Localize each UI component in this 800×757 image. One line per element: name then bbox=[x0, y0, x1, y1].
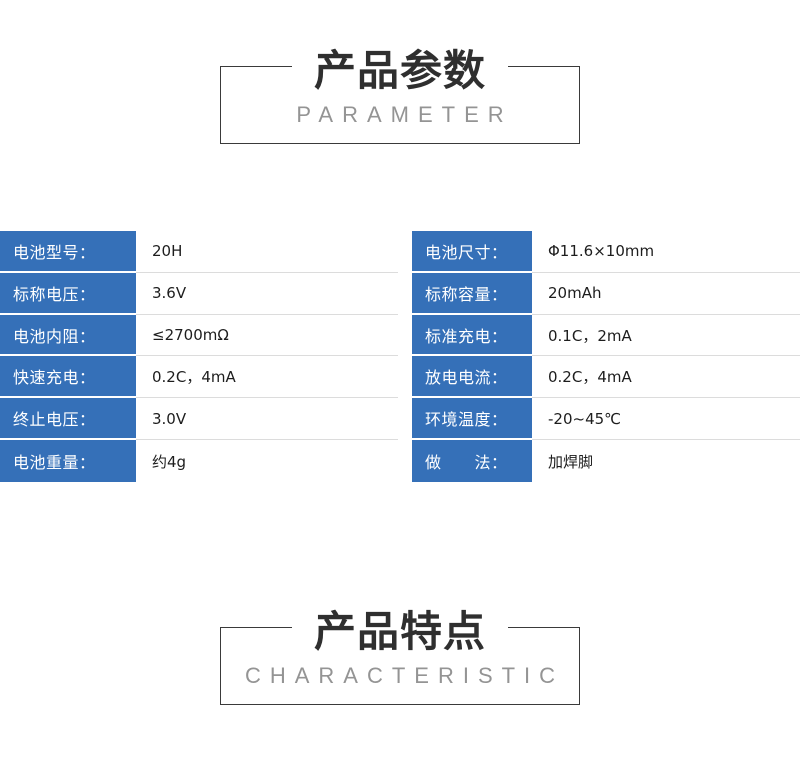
spec-value: ≤2700mΩ bbox=[136, 315, 398, 357]
spec-value: 0.1C，2mA bbox=[532, 315, 800, 357]
section-header-parameter: 产品参数 PARAMETER bbox=[220, 46, 580, 144]
spec-label: 放电电流： bbox=[412, 356, 532, 398]
table-row: 电池重量： 约4g bbox=[0, 440, 398, 482]
spec-value: Φ11.6×10mm bbox=[532, 231, 800, 273]
table-row: 标称电压： 3.6V bbox=[0, 273, 398, 315]
spec-value: 0.2C，4mA bbox=[532, 356, 800, 398]
spec-value: 约4g bbox=[136, 440, 398, 482]
section-title-characteristic-cn: 产品特点 bbox=[220, 607, 580, 657]
spec-label: 标称电压： bbox=[0, 273, 136, 315]
table-row: 电池型号： 20H bbox=[0, 231, 398, 273]
section-subtitle-characteristic-en: CHARACTERISTIC bbox=[220, 663, 580, 689]
section-subtitle-parameter-en: PARAMETER bbox=[220, 102, 580, 128]
spec-value: 3.0V bbox=[136, 398, 398, 440]
spec-label: 做 法： bbox=[412, 440, 532, 482]
spec-label: 电池内阻： bbox=[0, 315, 136, 357]
spec-table-right-column: 电池尺寸： Φ11.6×10mm 标称容量： 20mAh 标准充电： 0.1C，… bbox=[412, 231, 800, 482]
table-row: 终止电压： 3.0V bbox=[0, 398, 398, 440]
product-parameter-page: 产品参数 PARAMETER 电池型号： 20H 标称电压： 3.6V 电池内阻… bbox=[0, 0, 800, 757]
specification-table: 电池型号： 20H 标称电压： 3.6V 电池内阻： ≤2700mΩ 快速充电：… bbox=[0, 231, 800, 482]
table-row: 快速充电： 0.2C，4mA bbox=[0, 356, 398, 398]
section-header-characteristic: 产品特点 CHARACTERISTIC bbox=[220, 607, 580, 705]
table-row: 标称容量： 20mAh bbox=[412, 273, 800, 315]
spec-label: 终止电压： bbox=[0, 398, 136, 440]
section-title-parameter-cn: 产品参数 bbox=[220, 46, 580, 96]
table-row: 电池尺寸： Φ11.6×10mm bbox=[412, 231, 800, 273]
table-row: 标准充电： 0.1C，2mA bbox=[412, 315, 800, 357]
spec-value: -20~45℃ bbox=[532, 398, 800, 440]
table-row: 做 法： 加焊脚 bbox=[412, 440, 800, 482]
spec-label: 电池尺寸： bbox=[412, 231, 532, 273]
spec-label: 电池型号： bbox=[0, 231, 136, 273]
spec-value: 20mAh bbox=[532, 273, 800, 315]
table-row: 电池内阻： ≤2700mΩ bbox=[0, 315, 398, 357]
spec-label: 环境温度： bbox=[412, 398, 532, 440]
spec-label: 快速充电： bbox=[0, 356, 136, 398]
spec-table-gutter bbox=[398, 231, 412, 482]
spec-label: 标准充电： bbox=[412, 315, 532, 357]
spec-table-left-column: 电池型号： 20H 标称电压： 3.6V 电池内阻： ≤2700mΩ 快速充电：… bbox=[0, 231, 398, 482]
spec-value: 20H bbox=[136, 231, 398, 273]
spec-value: 0.2C，4mA bbox=[136, 356, 398, 398]
spec-label: 电池重量： bbox=[0, 440, 136, 482]
table-row: 放电电流： 0.2C，4mA bbox=[412, 356, 800, 398]
table-row: 环境温度： -20~45℃ bbox=[412, 398, 800, 440]
spec-label: 标称容量： bbox=[412, 273, 532, 315]
spec-value: 加焊脚 bbox=[532, 440, 800, 482]
spec-value: 3.6V bbox=[136, 273, 398, 315]
